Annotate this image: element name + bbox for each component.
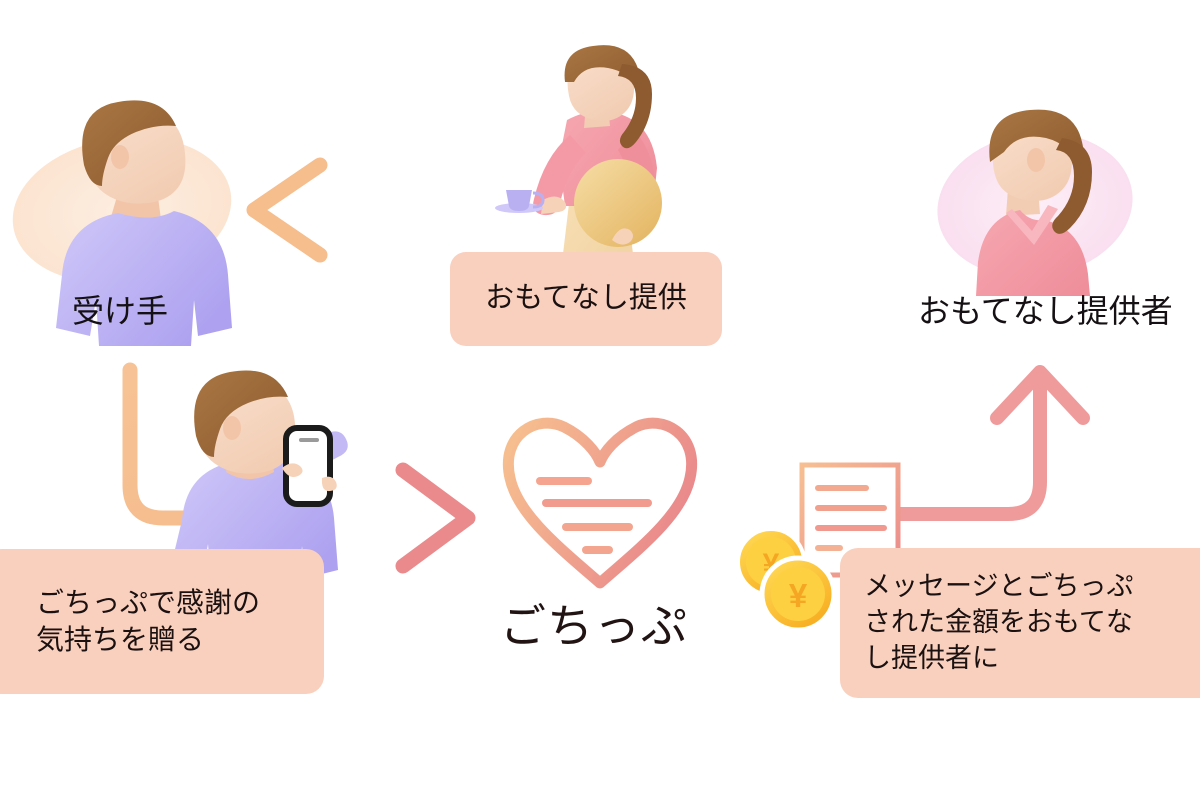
caption-receiver: 受け手 bbox=[72, 286, 168, 332]
coffee-cup-icon bbox=[506, 190, 532, 211]
yen-symbol-back: ¥ bbox=[763, 548, 780, 581]
caption-provider: おもてなし提供者 bbox=[918, 286, 1173, 332]
saucer bbox=[495, 203, 543, 213]
yen-coin-front-icon: ¥ bbox=[762, 558, 834, 630]
label-omotenashi-provide: おもてなし提供 bbox=[450, 252, 722, 346]
round-tray-icon bbox=[574, 159, 662, 247]
diagram-canvas: ¥ ¥ おもてなし提供 ごちっぷで感謝の 気持ちを贈る メッセージとごちっぷ さ… bbox=[0, 0, 1200, 800]
arrow-document-to-provider bbox=[900, 372, 1083, 514]
elbow-receiver-down-to-sender bbox=[130, 370, 300, 518]
yen-symbol-front: ¥ bbox=[789, 577, 808, 614]
label-message-amount: メッセージとごちっぷ された金額をおもてな し提供者に bbox=[840, 548, 1200, 698]
heart-outline-with-lines-icon bbox=[508, 423, 691, 583]
brand-logo-caption: ごちっぷ bbox=[500, 590, 688, 656]
label-gochip-send-text: ごちっぷで感謝の 気持ちを贈る bbox=[36, 585, 260, 658]
label-message-amount-text: メッセージとごちっぷ された金額をおもてな し提供者に bbox=[864, 569, 1133, 677]
person-female-avatar-icon bbox=[928, 110, 1142, 296]
yen-coin-back-icon: ¥ bbox=[738, 529, 804, 595]
label-omotenashi-provide-text: おもてなし提供 bbox=[485, 280, 687, 318]
smartphone-icon bbox=[286, 428, 330, 504]
label-gochip-send: ごちっぷで感謝の 気持ちを贈る bbox=[0, 549, 324, 694]
arrow-provider-to-receiver bbox=[254, 165, 872, 255]
